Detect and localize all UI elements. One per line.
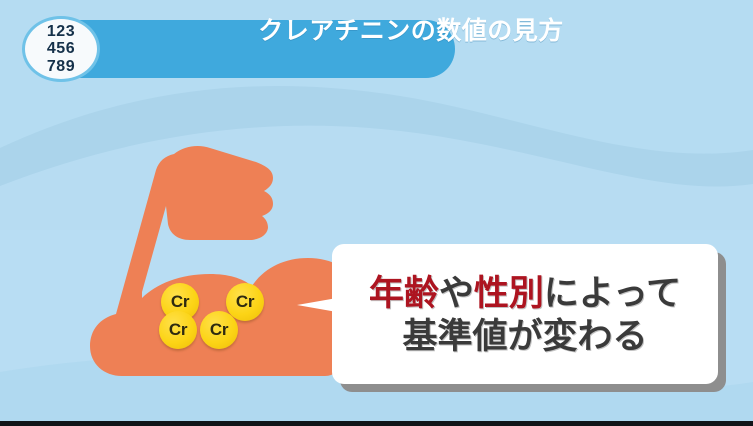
callout-text-kijunchi: 基準値が変わる (402, 317, 647, 356)
callout-line-1: 年齢や性別によって (369, 273, 681, 316)
callout-text-niyotte: によって (544, 274, 681, 313)
callout-bubble: 年齢や性別によって 基準値が変わる (332, 244, 718, 384)
badge-line-1: 123 (47, 23, 75, 40)
cr-token: Cr (200, 311, 238, 349)
badge-line-2: 456 (47, 40, 75, 57)
broadcast-graphic-slide: クレアチニンの数値の見方 123 456 789 Cr Cr Cr Cr 年齢や… (0, 0, 753, 426)
callout-tail (297, 298, 337, 312)
callout-emphasis-age: 年齢 (369, 274, 439, 313)
badge-line-3: 789 (47, 58, 75, 75)
page-title: クレアチニンの数値の見方 (83, 0, 739, 58)
callout-emphasis-sex: 性別 (474, 274, 544, 313)
callout-text-ya: や (439, 274, 474, 313)
cr-token: Cr (159, 311, 197, 349)
callout-line-2: 基準値が変わる (402, 316, 647, 359)
number-badge: 123 456 789 (22, 16, 100, 82)
bottom-edge-bar (0, 421, 753, 426)
